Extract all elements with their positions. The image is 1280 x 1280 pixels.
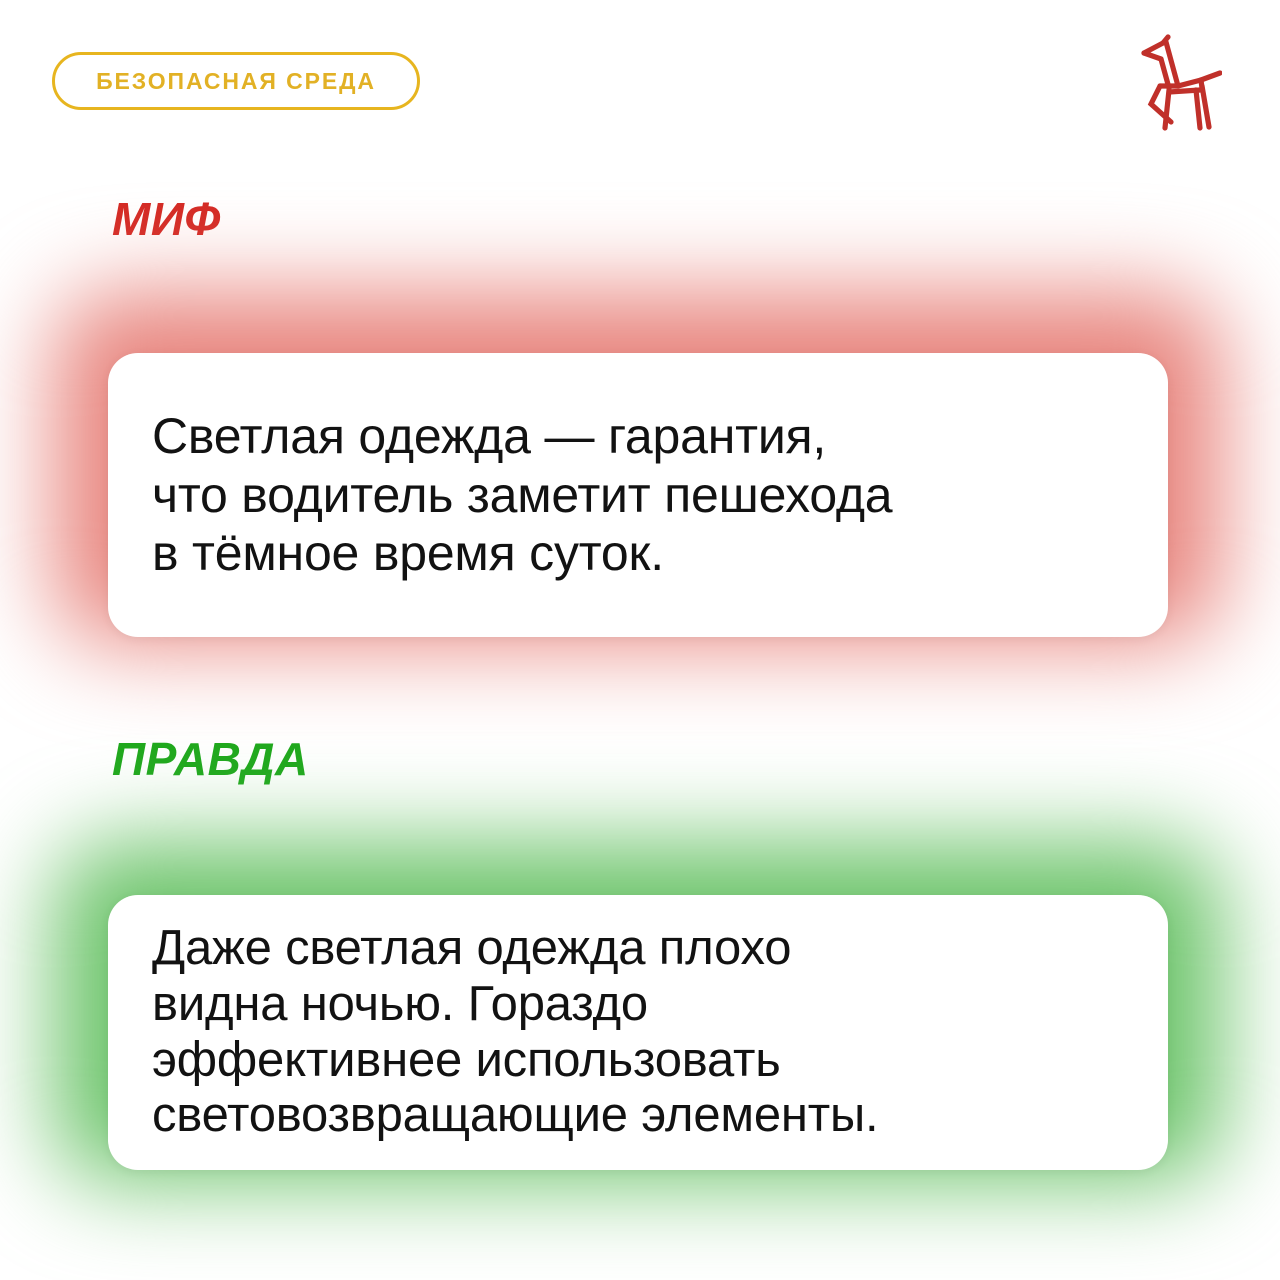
page-header: БЕЗОПАСНАЯ СРЕДА: [0, 0, 1280, 160]
truth-card-text: Даже светлая одежда плохо видна ночью. Г…: [108, 921, 922, 1144]
myth-card-block: Светлая одежда — гарантия, что водитель …: [0, 250, 1280, 700]
brand-badge-label: БЕЗОПАСНАЯ СРЕДА: [96, 70, 376, 93]
horse-line-art-icon: [1138, 28, 1222, 132]
brand-badge: БЕЗОПАСНАЯ СРЕДА: [52, 52, 420, 110]
section-heading-myth: МИФ: [112, 196, 221, 242]
truth-card-block: Даже светлая одежда плохо видна ночью. Г…: [0, 800, 1280, 1280]
truth-card: Даже светлая одежда плохо видна ночью. Г…: [108, 895, 1168, 1170]
myth-card: Светлая одежда — гарантия, что водитель …: [108, 353, 1168, 637]
myth-card-text: Светлая одежда — гарантия, что водитель …: [108, 407, 936, 583]
section-heading-truth: ПРАВДА: [112, 736, 309, 782]
